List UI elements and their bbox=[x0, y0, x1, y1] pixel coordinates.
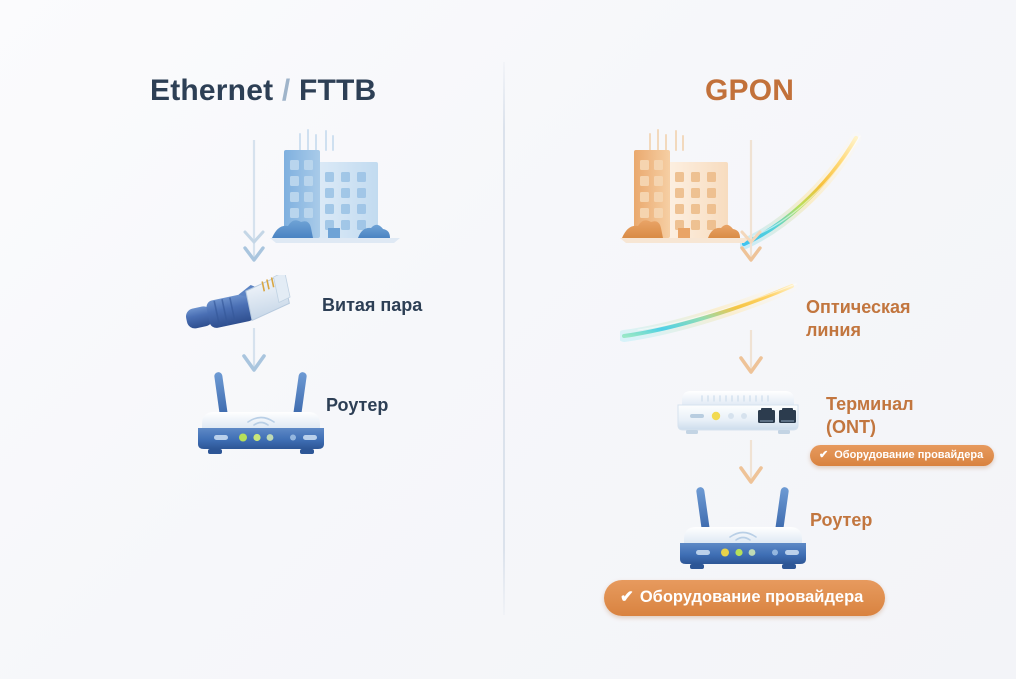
right-router-illustration bbox=[668, 487, 818, 576]
fiber-optic-strand-icon bbox=[620, 282, 800, 344]
ont-badge-label: Оборудование провайдера bbox=[834, 449, 983, 461]
wifi-router-icon bbox=[668, 487, 818, 571]
check-icon: ✔ bbox=[819, 450, 828, 461]
right-ont-illustration bbox=[668, 378, 808, 445]
apartment-building-icon bbox=[620, 128, 750, 246]
terminal-label-line1: Терминал bbox=[826, 394, 914, 414]
left-building-illustration bbox=[270, 128, 400, 251]
right-building-illustration bbox=[620, 128, 750, 251]
down-arrow-icon bbox=[737, 440, 765, 488]
wifi-router-icon bbox=[186, 372, 336, 456]
optical-label-line1: Оптическая bbox=[806, 297, 911, 317]
right-arrow-building-to-optical bbox=[737, 140, 765, 270]
apartment-building-icon bbox=[270, 128, 400, 246]
left-router-illustration bbox=[186, 372, 336, 461]
column-divider bbox=[503, 62, 505, 615]
right-optical-label: Оптическаялиния bbox=[806, 296, 911, 342]
down-arrow-icon bbox=[240, 328, 268, 376]
right-terminal-label: Терминал(ONT) bbox=[826, 393, 914, 439]
fiber-optic-streak-middle bbox=[620, 282, 800, 349]
left-title-separator: / bbox=[282, 74, 291, 107]
right-arrow-ont-to-router bbox=[737, 440, 765, 493]
right-router-label: Роутер bbox=[810, 509, 872, 532]
optical-label-line2: линия bbox=[806, 320, 861, 340]
left-cable-label: Витая пара bbox=[322, 294, 422, 317]
ont-provider-equipment-badge[interactable]: ✔ Оборудование провайдера bbox=[810, 445, 994, 466]
router-provider-equipment-badge[interactable]: ✔ Оборудование провайдера bbox=[604, 580, 885, 616]
router-badge-label: Оборудование провайдера bbox=[640, 588, 864, 607]
right-column-title: GPON bbox=[705, 74, 794, 108]
check-icon: ✔ bbox=[620, 589, 634, 606]
right-arrow-optical-to-ont bbox=[737, 330, 765, 383]
left-title-ethernet: Ethernet bbox=[150, 74, 273, 107]
left-router-label: Роутер bbox=[326, 394, 388, 417]
left-arrow-building-to-cable bbox=[240, 140, 268, 270]
down-arrow-icon bbox=[737, 330, 765, 378]
down-arrow-icon bbox=[240, 140, 268, 265]
terminal-label-line2: (ONT) bbox=[826, 417, 876, 437]
down-arrow-icon bbox=[737, 140, 765, 265]
left-title-fttb: FTTB bbox=[299, 74, 376, 107]
left-column-title: Ethernet / FTTB bbox=[150, 74, 376, 108]
ont-terminal-icon bbox=[668, 378, 808, 440]
diagram-canvas: Ethernet / FTTB GPON bbox=[0, 0, 1016, 679]
